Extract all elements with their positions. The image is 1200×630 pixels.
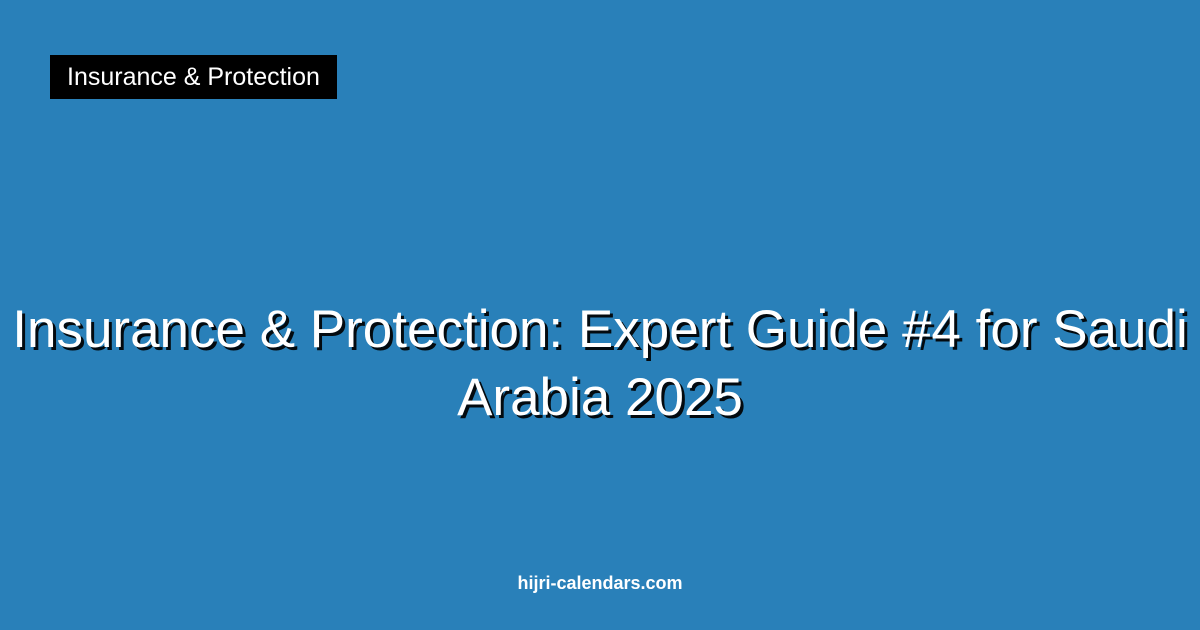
category-badge: Insurance & Protection (50, 55, 337, 99)
og-image-card: Insurance & Protection Insurance & Prote… (0, 0, 1200, 630)
site-name-label: hijri-calendars.com (517, 573, 682, 593)
category-badge-label: Insurance & Protection (67, 65, 320, 90)
page-title: Insurance & Protection: Expert Guide #4 … (0, 296, 1200, 432)
page-title-line-1: Insurance & Protection: Expert Guide #4 … (0, 296, 1200, 364)
page-title-line-2: Arabia 2025 (0, 364, 1200, 432)
site-footer: hijri-calendars.com (0, 572, 1200, 594)
